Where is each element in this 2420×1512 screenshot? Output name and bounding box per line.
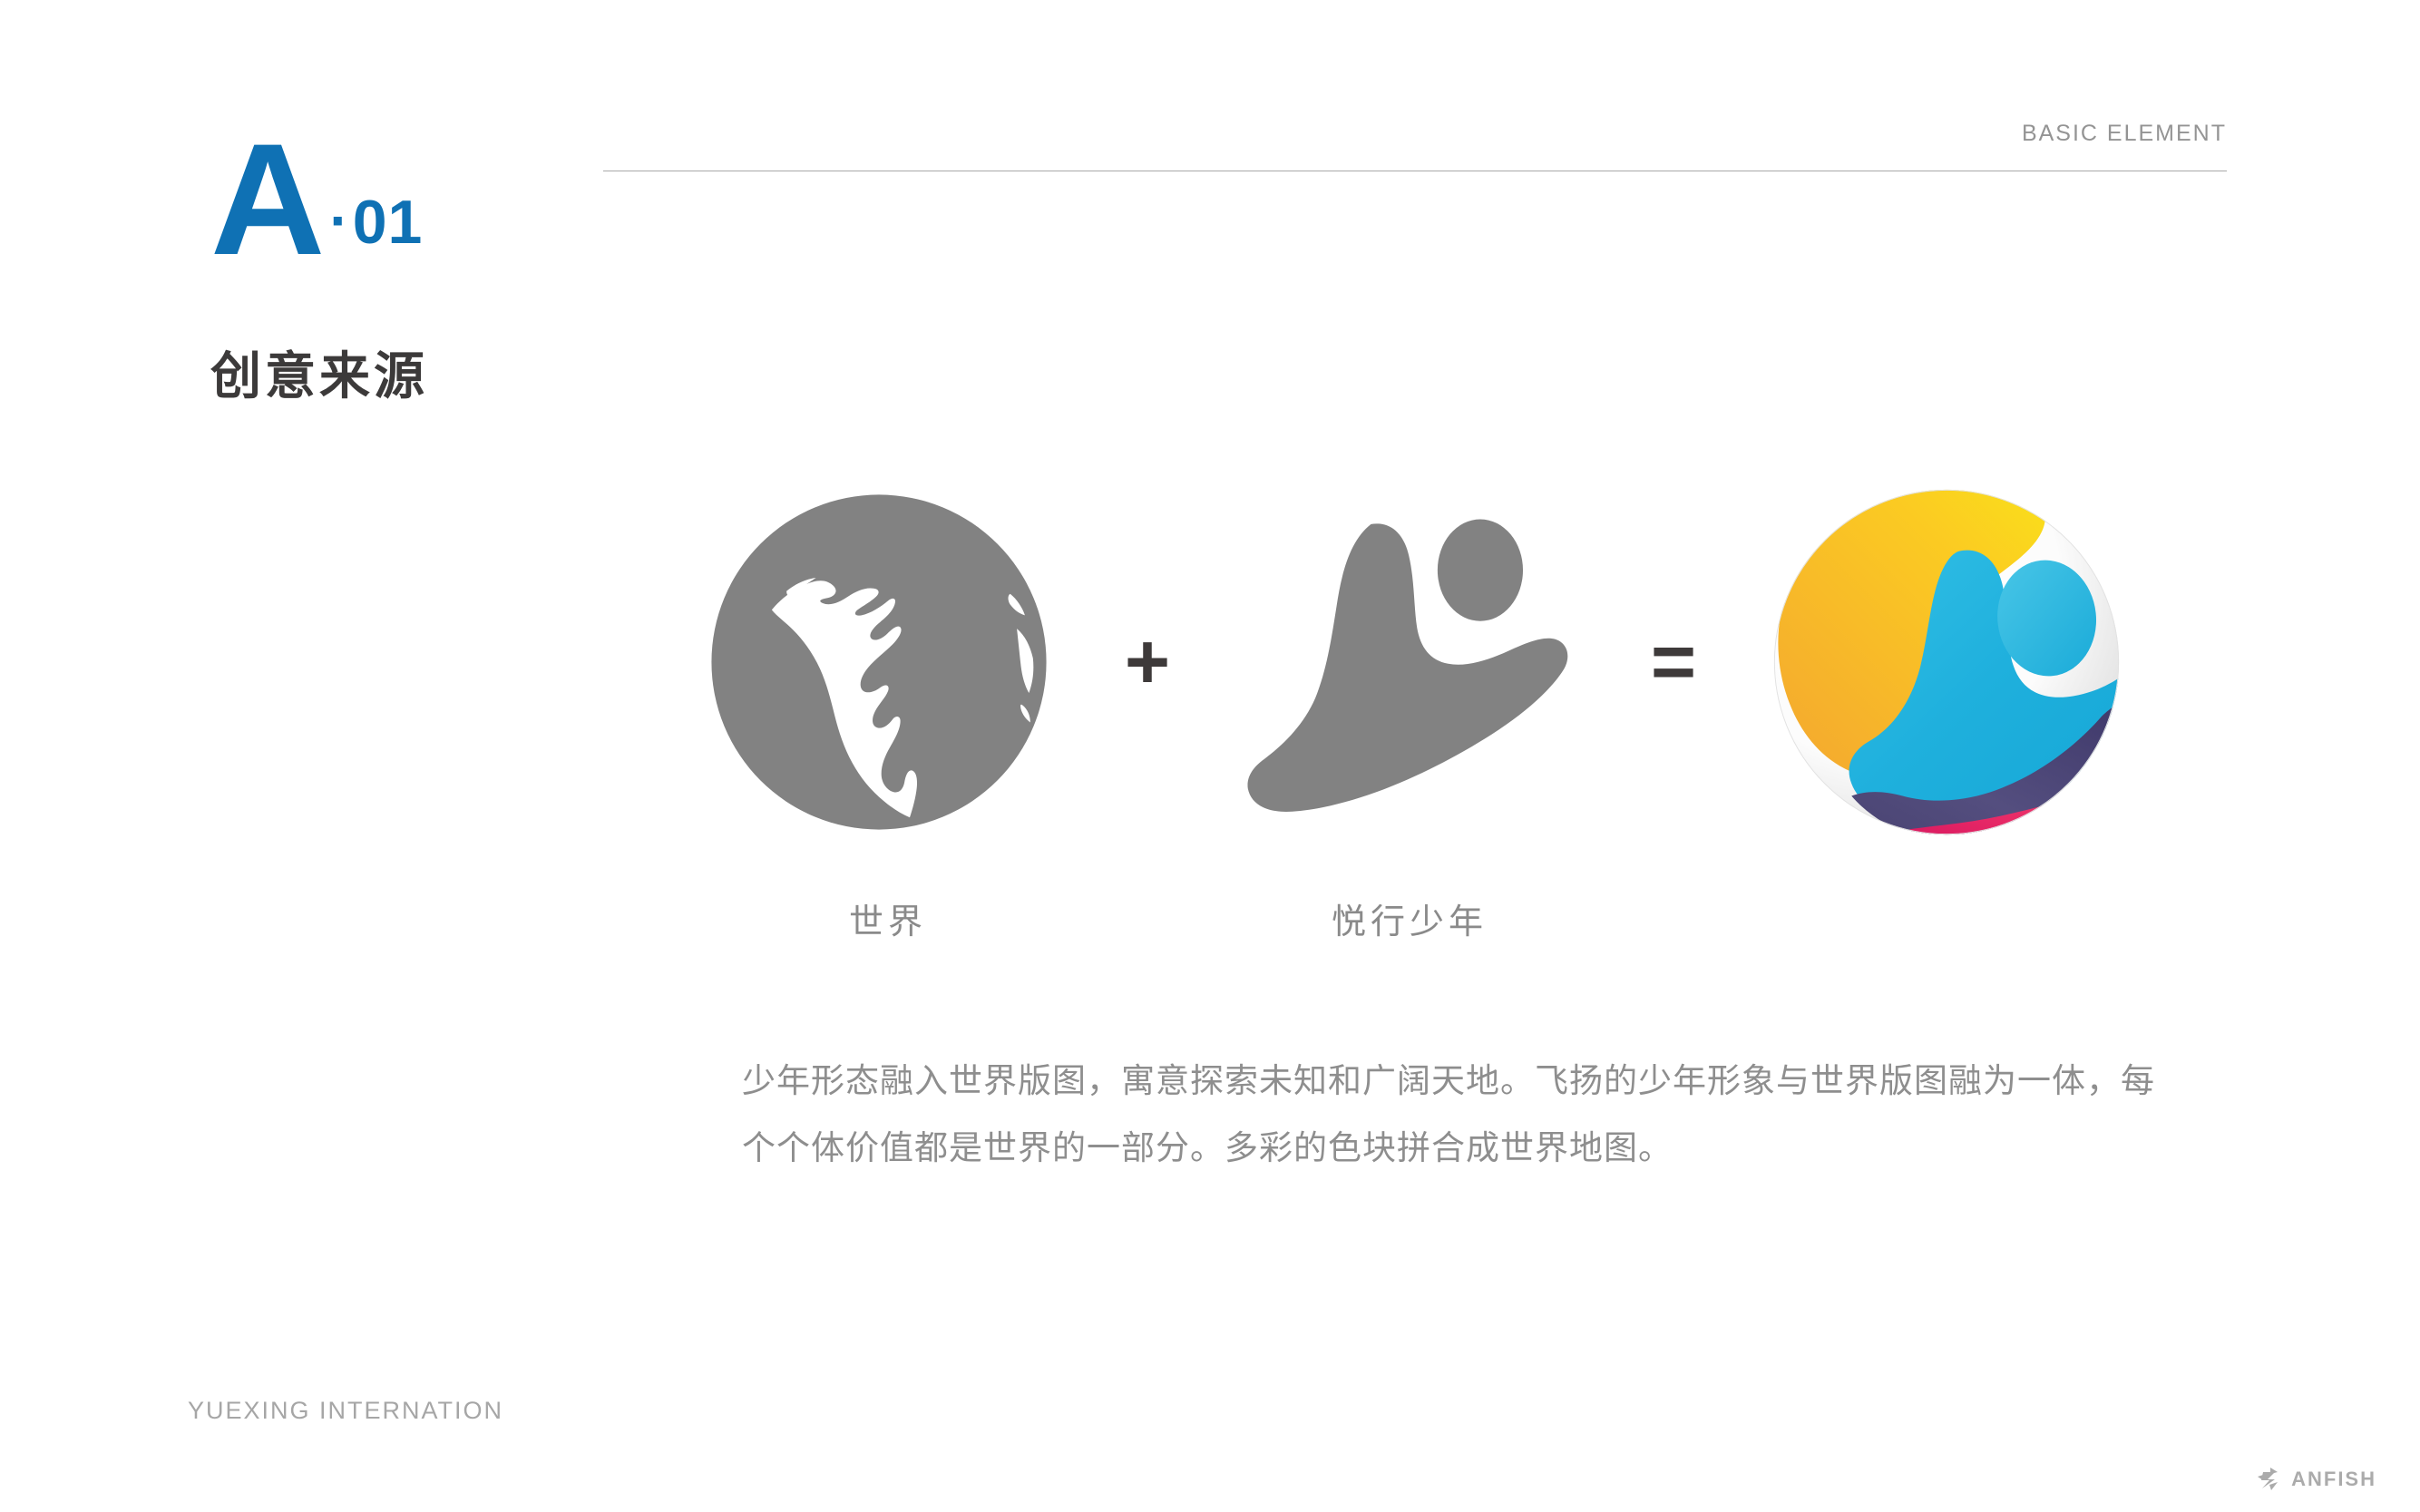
section-letter: A (210, 127, 322, 273)
formula-item-youth (1244, 506, 1576, 818)
header-section-label: BASIC ELEMENT (1683, 121, 2227, 147)
watermark: ANFISH (2258, 1467, 2376, 1492)
caption-youth: 悦行少年 (1332, 893, 1488, 943)
page-title: 创意来源 (210, 336, 428, 409)
slide-root: BASIC ELEMENT A · 01 创意来源 + (0, 0, 2420, 1512)
section-number: 01 (353, 191, 424, 253)
formula-item-logo (1771, 486, 2122, 838)
concept-description: 少年形态融入世界版图，寓意探索未知和广阔天地。飞扬的少年形象与世界版图融为一体，… (742, 1048, 2157, 1182)
footer-brand: YUEXING INTERNATION (188, 1397, 503, 1425)
concept-formula-row: + = (707, 472, 2122, 853)
section-marker: A · 01 (210, 127, 423, 273)
caption-world: 世界 (849, 893, 927, 943)
brand-logo-icon (1771, 486, 2122, 838)
formula-item-world (707, 491, 1050, 834)
plus-operator: + (1125, 623, 1170, 701)
globe-icon (707, 491, 1050, 834)
equals-operator: = (1651, 623, 1696, 701)
header-divider (603, 171, 2227, 171)
section-separator-dot: · (329, 191, 348, 249)
formula-captions: 世界 悦行少年 (707, 893, 2122, 948)
youth-figure-icon (1244, 506, 1576, 818)
watermark-text: ANFISH (2291, 1468, 2376, 1491)
sanfish-fish-icon (2258, 1467, 2288, 1492)
